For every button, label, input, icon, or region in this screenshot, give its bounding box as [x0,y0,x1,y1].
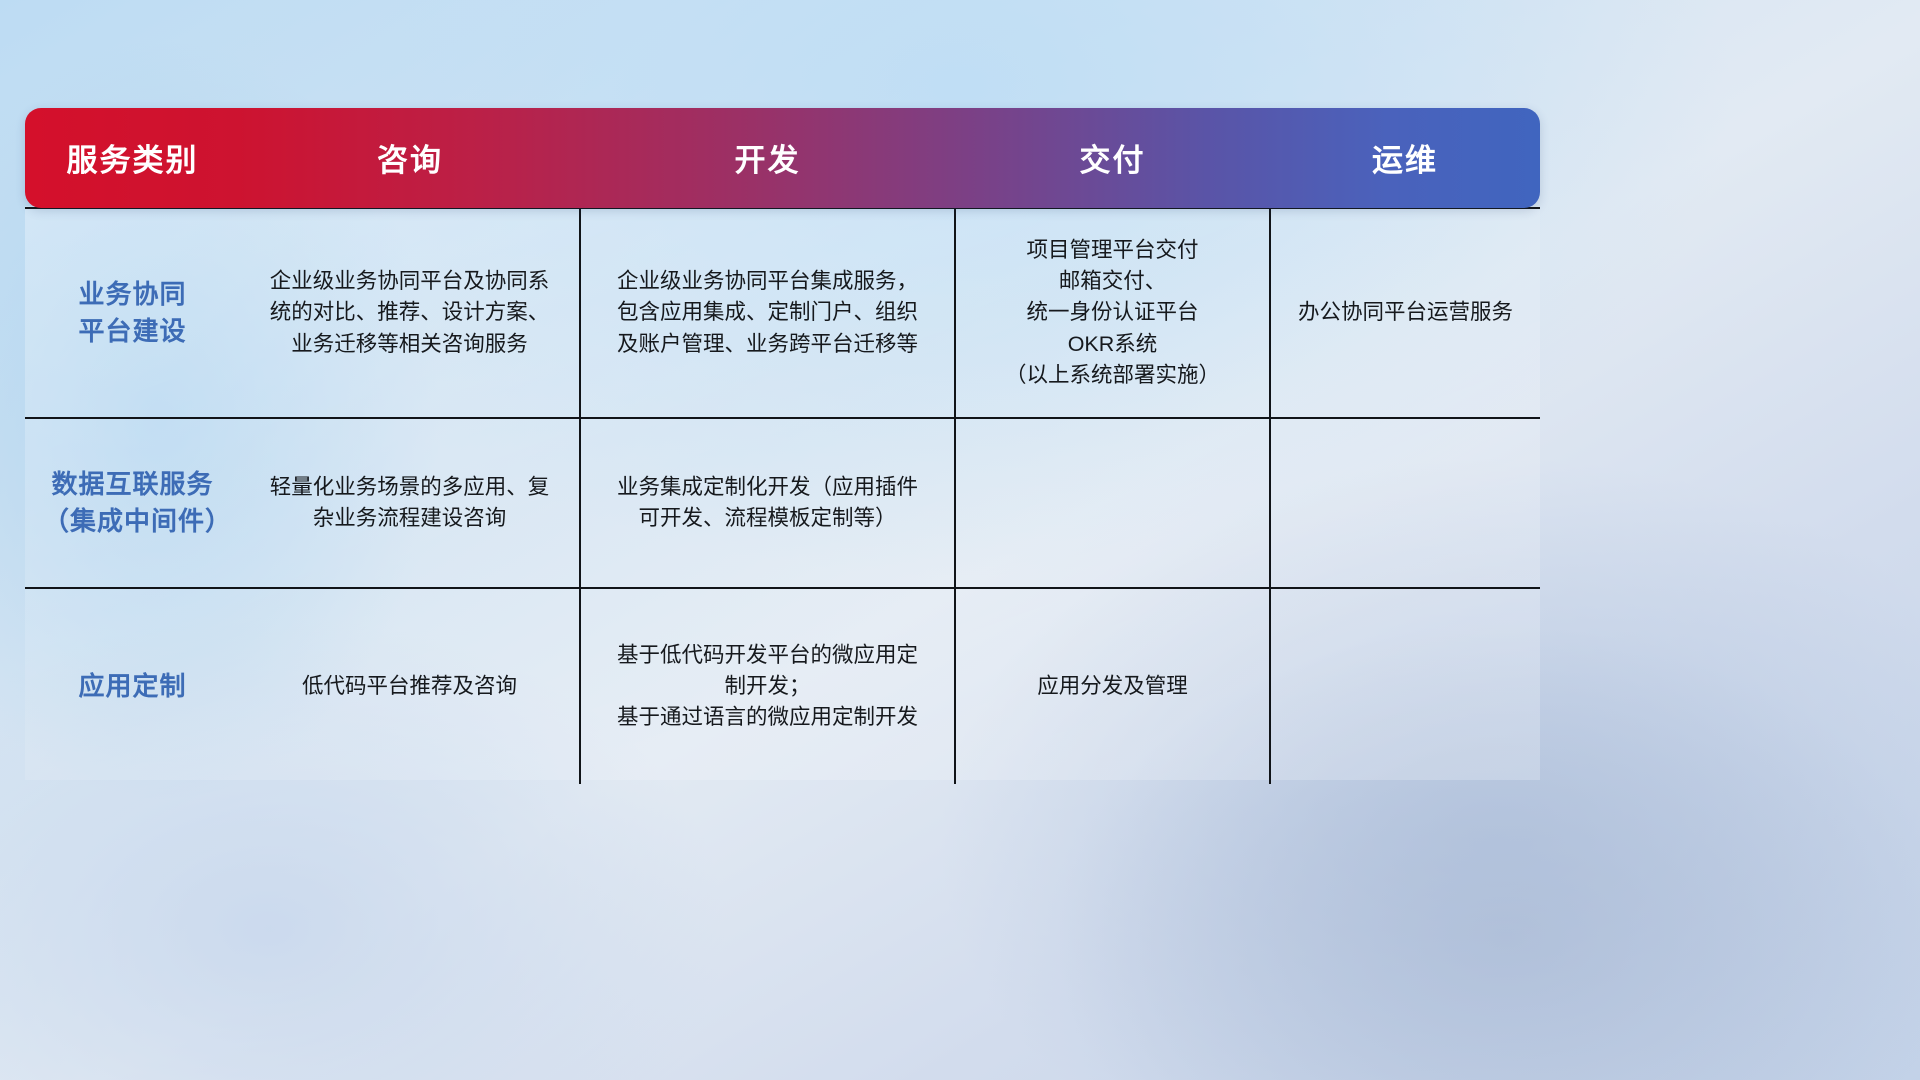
cell-consulting: 低代码平台推荐及咨询 [240,588,580,784]
cell-delivery: 项目管理平台交付 邮箱交付、 统一身份认证平台 OKR系统 （以上系统部署实施） [955,208,1270,418]
column-header-development: 开发 [580,108,955,208]
row-category-label: 业务协同 平台建设 [25,208,240,418]
column-header-operations: 运维 [1270,108,1540,208]
table-row: 业务协同 平台建设 企业级业务协同平台及协同系 统的对比、推荐、设计方案、 业务… [25,208,1540,418]
service-matrix-table-wrapper: 服务类别 咨询 开发 交付 运维 业务协同 平台建设 企业级业务协同平台及协同系… [25,108,1540,784]
cell-operations: 办公协同平台运营服务 [1270,208,1540,418]
cell-delivery [955,418,1270,588]
table-body: 业务协同 平台建设 企业级业务协同平台及协同系 统的对比、推荐、设计方案、 业务… [25,208,1540,784]
cell-development: 企业级业务协同平台集成服务， 包含应用集成、定制门户、组织 及账户管理、业务跨平… [580,208,955,418]
table-head: 服务类别 咨询 开发 交付 运维 [25,108,1540,208]
cell-operations [1270,418,1540,588]
column-header-consulting: 咨询 [240,108,580,208]
column-header-delivery: 交付 [955,108,1270,208]
row-category-label: 数据互联服务 （集成中间件） [25,418,240,588]
table-row: 应用定制 低代码平台推荐及咨询 基于低代码开发平台的微应用定 制开发； 基于通过… [25,588,1540,784]
service-matrix-table: 服务类别 咨询 开发 交付 运维 业务协同 平台建设 企业级业务协同平台及协同系… [25,108,1540,784]
row-category-label: 应用定制 [25,588,240,784]
header-row: 服务类别 咨询 开发 交付 运维 [25,108,1540,208]
column-header-service-category: 服务类别 [25,108,240,208]
cell-operations [1270,588,1540,784]
cell-development: 基于低代码开发平台的微应用定 制开发； 基于通过语言的微应用定制开发 [580,588,955,784]
table-row: 数据互联服务 （集成中间件） 轻量化业务场景的多应用、复 杂业务流程建设咨询 业… [25,418,1540,588]
cell-development: 业务集成定制化开发（应用插件 可开发、流程模板定制等） [580,418,955,588]
cell-consulting: 轻量化业务场景的多应用、复 杂业务流程建设咨询 [240,418,580,588]
cell-consulting: 企业级业务协同平台及协同系 统的对比、推荐、设计方案、 业务迁移等相关咨询服务 [240,208,580,418]
cell-delivery: 应用分发及管理 [955,588,1270,784]
